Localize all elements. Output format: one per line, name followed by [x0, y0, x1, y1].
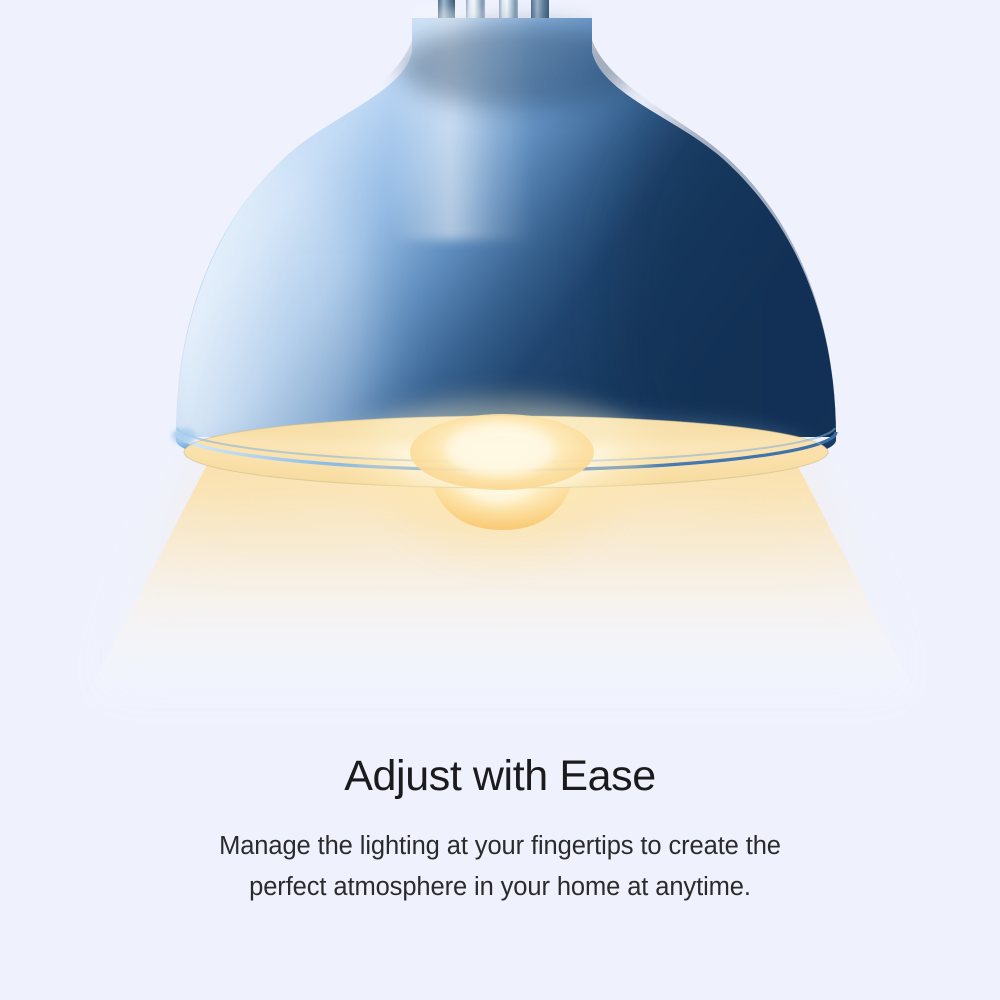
page-title: Adjust with Ease [0, 752, 1000, 800]
rim-left-tip-highlight [172, 428, 196, 444]
bulb-inside-group [352, 397, 652, 513]
bulb-inner-halo [352, 397, 652, 513]
caption-block: Adjust with Ease Manage the lighting at … [0, 752, 1000, 909]
page-subtitle-line-2: perfect atmosphere in your home at anyti… [0, 867, 1000, 908]
page-subtitle-line-1: Manage the lighting at your fingertips t… [0, 826, 1000, 867]
page-subtitle: Manage the lighting at your fingertips t… [0, 800, 1000, 909]
hero-panel: Adjust with Ease Manage the lighting at … [0, 0, 1000, 1000]
